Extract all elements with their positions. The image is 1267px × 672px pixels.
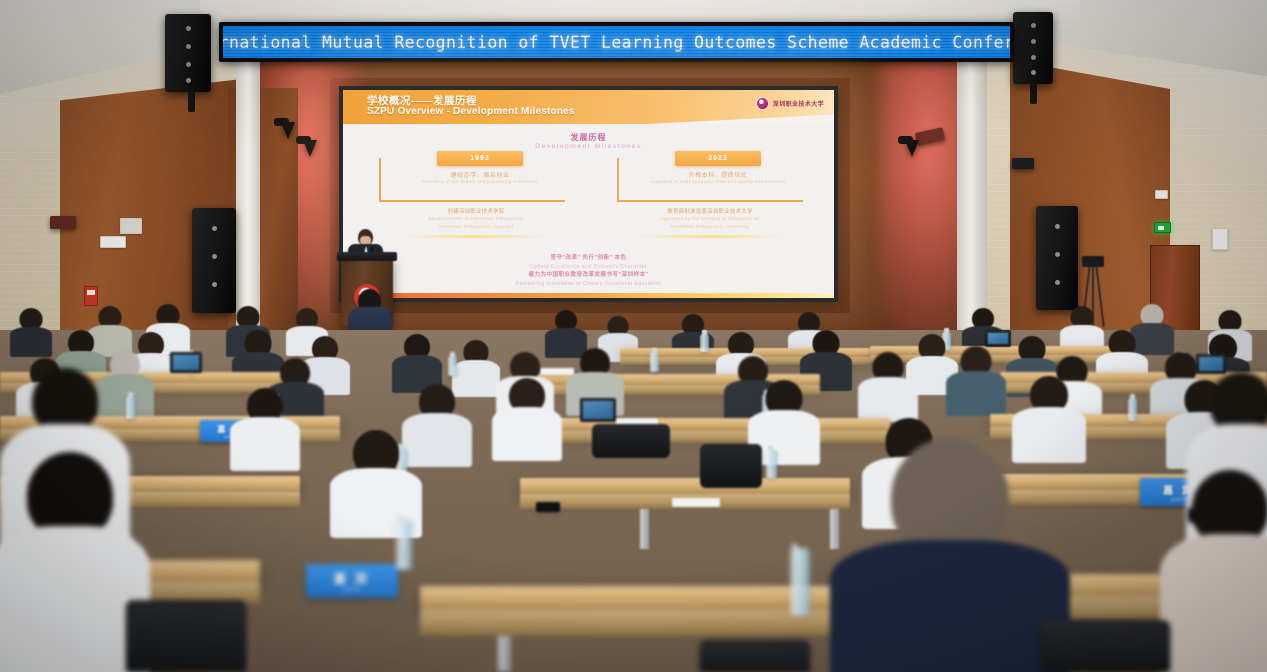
attendee [858, 352, 918, 418]
speaker-mount-right [1030, 82, 1037, 104]
podium-top-surface [337, 252, 397, 261]
water-bottle [1128, 398, 1137, 421]
slide-subtitle-english: · Development Milestones · [343, 143, 834, 150]
wall-camera-left [50, 216, 76, 229]
spotlight-head-3 [898, 136, 913, 144]
attendee [946, 346, 1006, 412]
water-bottle [396, 520, 412, 570]
attendee [230, 388, 300, 466]
name-card: 嘉 宾 GUEST [306, 564, 398, 598]
water-bottle [650, 352, 659, 372]
wall-control-panel-right [1212, 228, 1228, 250]
spotlight-head-2 [296, 136, 311, 144]
spotlight-head-1 [274, 118, 289, 126]
milestone-detail-2: 教育部批准设置深圳职业技术大学 Approved by the Ministry… [605, 208, 815, 238]
milestone-underline-1 [401, 235, 551, 238]
projection-screen: 学校概况——发展历程 SZPU Overview - Development M… [339, 86, 838, 302]
water-bottle [790, 548, 810, 616]
speaker-mount-left [188, 90, 195, 112]
milestone-year-badge-2: 2023 [675, 151, 761, 166]
milestone-caption-en-2: Upgraded to undergraduate level and qual… [639, 179, 797, 184]
chair [126, 600, 246, 672]
name-card-text-cn: 嘉 宾 [334, 570, 370, 587]
milestone-year-2: 2023 [708, 155, 728, 162]
desk [420, 586, 850, 610]
slide-footer-line-2: Upheld Excellence and Pioneer's Characte… [343, 263, 834, 272]
wall-control-panel-left [100, 236, 126, 248]
university-emblem-icon [756, 97, 769, 110]
attendee-body [492, 407, 562, 461]
document [672, 498, 720, 507]
attendee-body [946, 371, 1006, 416]
university-logo: 深圳职业技术大学 [756, 97, 824, 110]
chair [700, 640, 810, 672]
slide-title-english: SZPU Overview - Development Milestones [367, 106, 575, 117]
wall-speaker-left [120, 218, 142, 234]
slide-subtitle-chinese: 发展历程 [343, 132, 834, 143]
attendee-body [1160, 534, 1267, 672]
tripod-camera-head [1082, 256, 1104, 267]
laptop[interactable] [170, 352, 202, 373]
milestone-underline-2 [635, 235, 785, 238]
slide-footer: 坚守"改革" 先行"创新" 本色 Upheld Excellence and P… [343, 254, 834, 288]
attendee-body [230, 417, 300, 471]
water-bottle [766, 450, 777, 478]
water-bottle [448, 356, 457, 376]
attendee [830, 438, 1070, 672]
milestone-year-badge-1: 1993 [437, 151, 523, 166]
milestone-caption-cn-2: 升格本科、提质培优 [657, 170, 779, 179]
desk-front-panel [420, 610, 850, 636]
bag [700, 444, 762, 488]
attendee [330, 430, 422, 530]
milestone-detail-note-1: Shenzhen Polytechnic founded [371, 224, 581, 232]
university-logo-text: 深圳职业技术大学 [773, 99, 824, 108]
desk [520, 478, 850, 494]
milestone-detail-cn-1: 创建深圳职业技术学院 [371, 208, 581, 216]
slide-bottom-bar [343, 293, 834, 298]
wall-sensor [1155, 190, 1168, 199]
pillar-left [236, 45, 260, 345]
water-bottle [700, 334, 709, 352]
milestone-caption-en-1: Founding of the school and pioneering en… [401, 179, 559, 184]
milestone-detail-note-2: Shenzhen Polytechnic University [605, 224, 815, 232]
slide-body: 发展历程 · Development Milestones · 1993 建校办… [343, 124, 834, 298]
slide-footer-line-4: Pioneering Innovation in China's Vocatio… [343, 280, 834, 289]
milestone-detail-en-1: Establishment of Shenzhen Polytechnic [371, 216, 581, 224]
desk-leg [640, 509, 649, 549]
slide-footer-line-3: 着力为中国职业教育改革发展书写"深圳样本" [343, 271, 834, 280]
name-card-text-en: GUEST [342, 587, 361, 593]
attendee-body [10, 327, 52, 357]
milestone-detail-cn-2: 教育部批准设置深圳职业技术大学 [605, 208, 815, 216]
presentation-slide: 学校概况——发展历程 SZPU Overview - Development M… [343, 90, 834, 298]
attendee [392, 334, 442, 390]
attendee-body [830, 540, 1070, 672]
pillar-right [957, 45, 987, 345]
led-screen: International Mutual Recognition of TVET… [223, 26, 1010, 58]
led-banner: International Mutual Recognition of TVET… [219, 22, 1014, 62]
conference-hall-photo: International Mutual Recognition of TVET… [0, 0, 1267, 672]
attendee-body [858, 377, 918, 422]
desk-leg [498, 636, 511, 672]
speaker-stack-right-lower [1036, 206, 1078, 310]
speaker-array-right [1013, 12, 1053, 84]
slide-footer-line-1: 坚守"改革" 先行"创新" 本色 [343, 254, 834, 263]
bag [592, 424, 670, 458]
smartphone[interactable] [536, 502, 560, 512]
milestone-detail-1: 创建深圳职业技术学院 Establishment of Shenzhen Pol… [371, 208, 581, 238]
attendee [10, 308, 52, 354]
milestone-caption-cn-1: 建校办学、艰苦创业 [419, 170, 541, 179]
milestone-detail-en-2: Approved by the Ministry of Education as [605, 216, 815, 224]
laptop[interactable] [580, 398, 616, 422]
attendee [492, 378, 562, 456]
led-banner-text: International Mutual Recognition of TVET… [223, 33, 1010, 52]
attendee [1160, 470, 1267, 672]
fire-extinguisher-cabinet [84, 286, 98, 306]
speaker-stack-left-lower [192, 208, 236, 313]
wall-camera-right [1012, 158, 1034, 169]
speaker-array-left [165, 14, 211, 92]
chair [1040, 620, 1170, 672]
exit-sign-icon [1154, 222, 1171, 233]
milestone-year-1: 1993 [470, 155, 490, 162]
